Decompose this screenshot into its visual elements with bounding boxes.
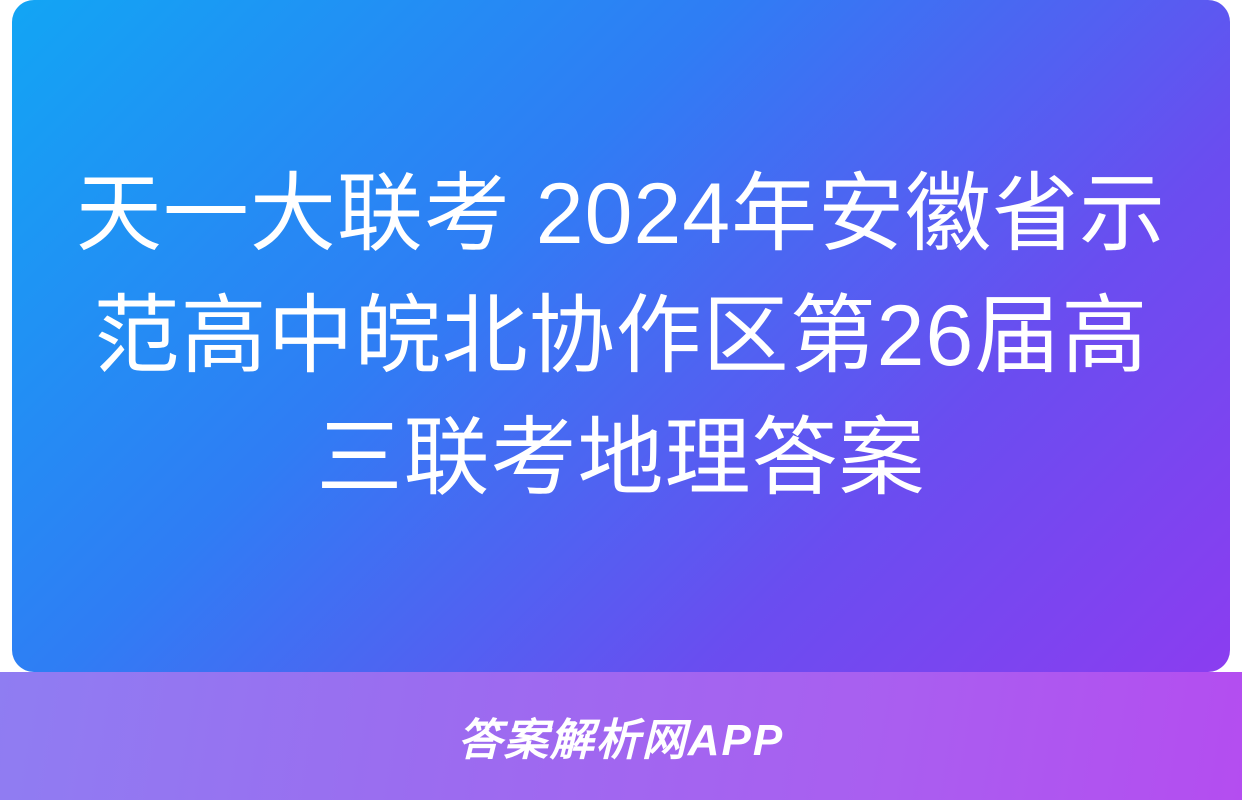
title-banner-content: 天一大联考 2024年安徽省示范高中皖北协作区第26届高三联考地理答案 (12, 0, 1230, 672)
app-watermark-bar: 答案解析网APP (0, 672, 1242, 800)
title-banner: 天一大联考 2024年安徽省示范高中皖北协作区第26届高三联考地理答案 (12, 0, 1230, 672)
screenshot-canvas: 天一大联考 2024年安徽省示范高中皖北协作区第26届高三联考地理答案 答案解析… (0, 0, 1242, 800)
page-title: 天一大联考 2024年安徽省示范高中皖北协作区第26届高三联考地理答案 (12, 153, 1230, 519)
app-watermark-label: 答案解析网APP (458, 704, 784, 768)
